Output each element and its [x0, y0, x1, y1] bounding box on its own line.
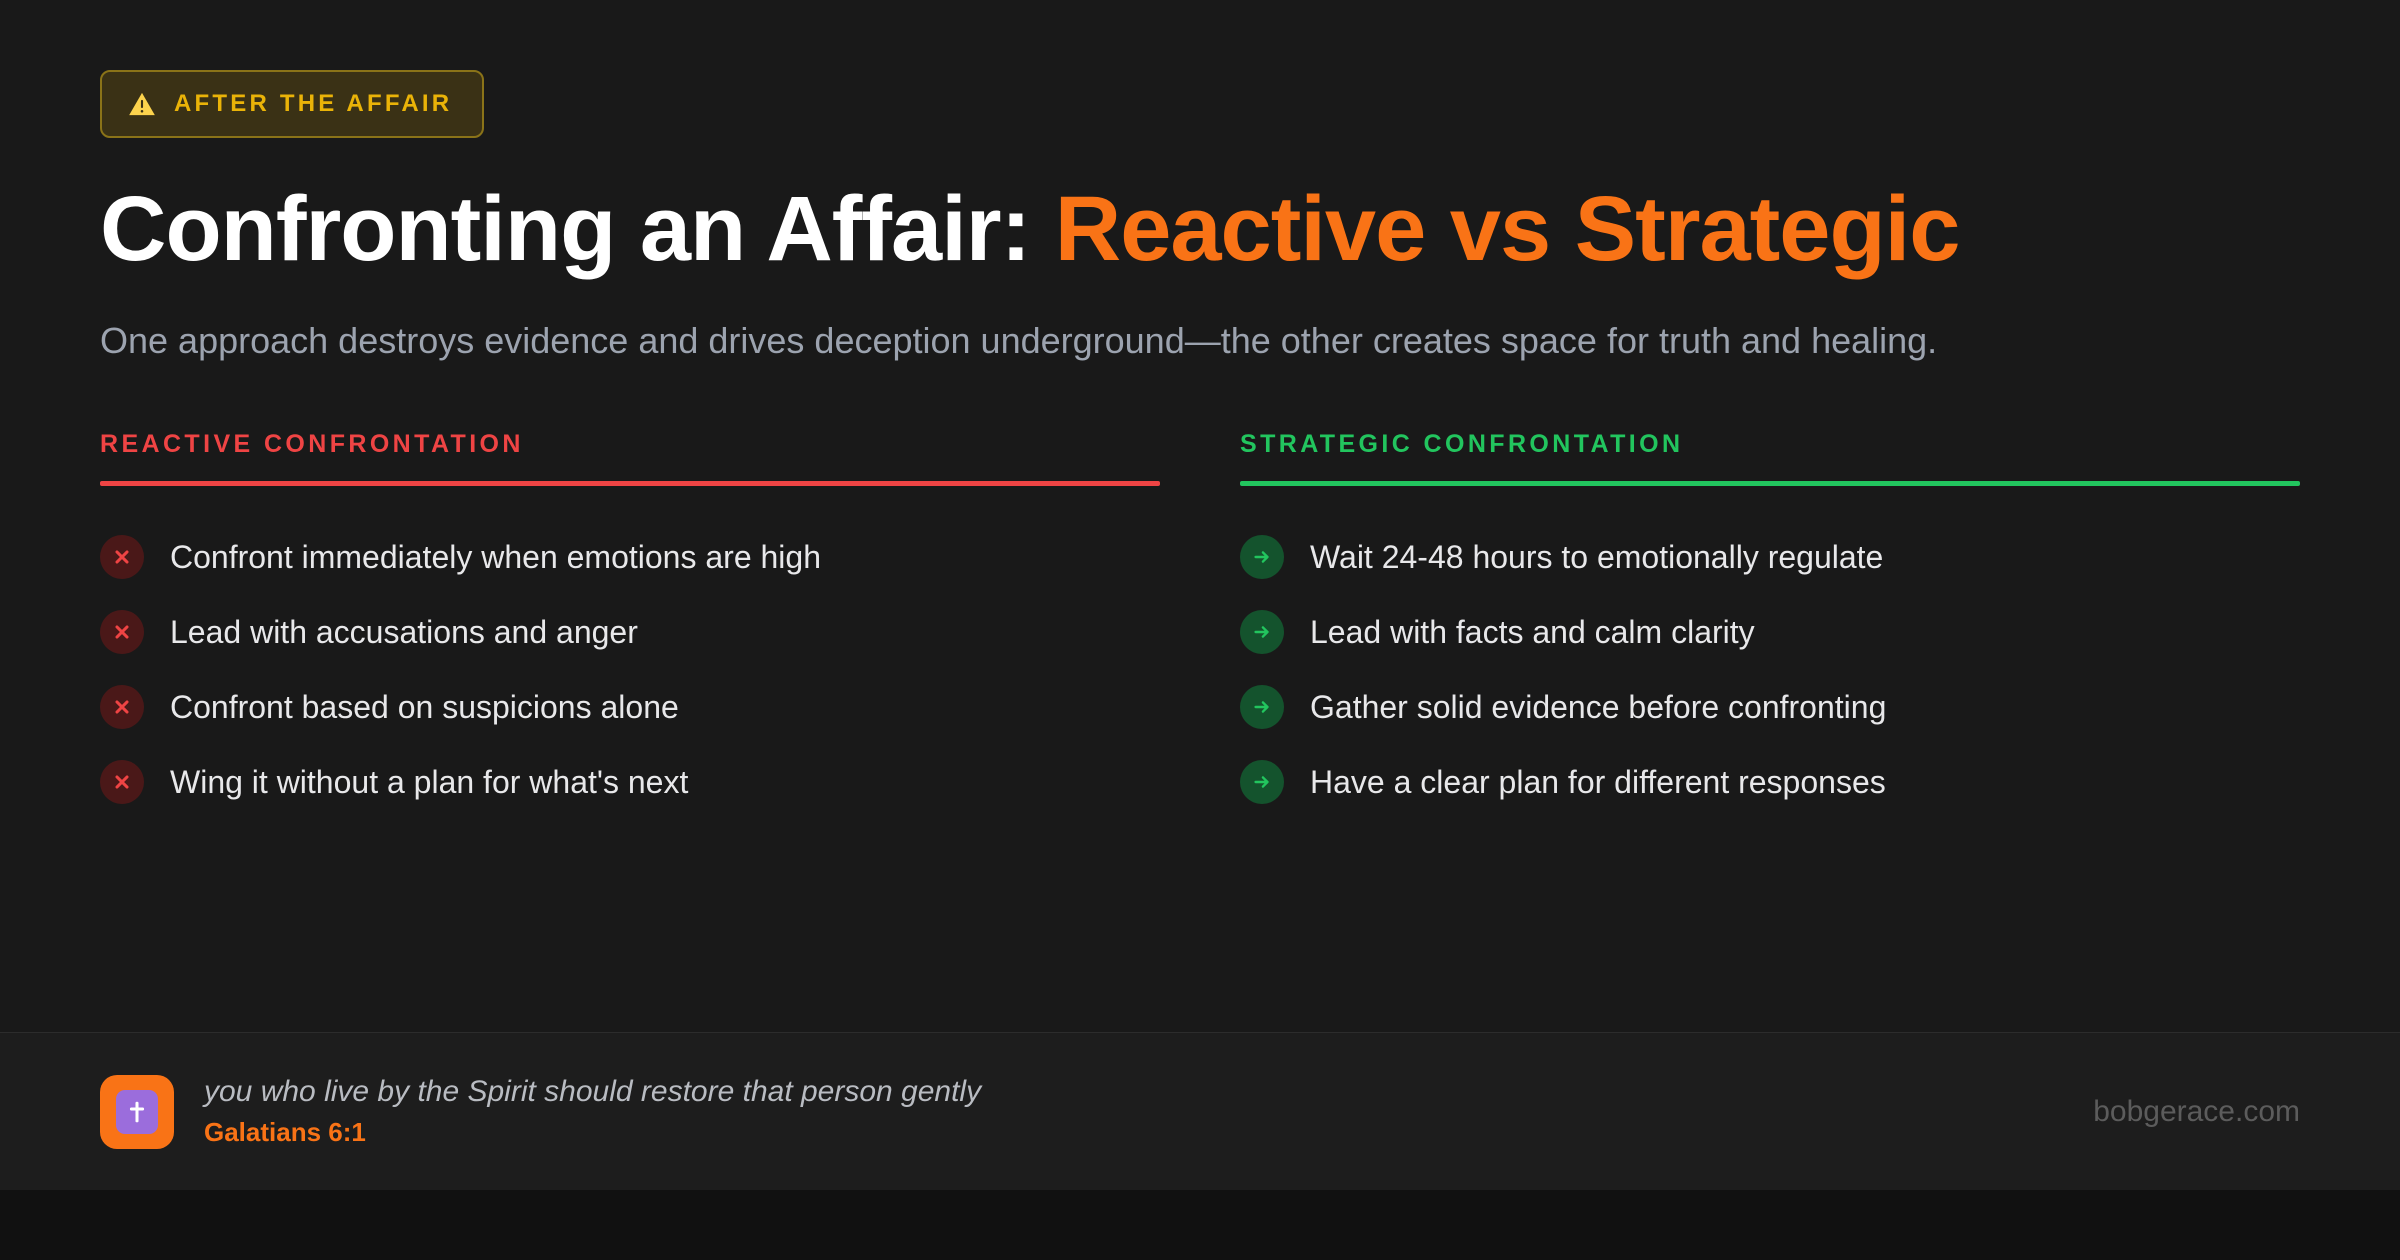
list-item-label: Have a clear plan for different response… [1310, 764, 1886, 801]
list-item: Wing it without a plan for what's next [100, 745, 1160, 820]
footer-bar: you who live by the Spirit should restor… [0, 1032, 2400, 1190]
page-subtitle: One approach destroys evidence and drive… [100, 315, 2270, 367]
page-title-accent: Reactive vs Strategic [1055, 178, 1960, 280]
column-strategic-heading: STRATEGIC CONFRONTATION [1240, 430, 2300, 481]
column-strategic: STRATEGIC CONFRONTATION Wait 24-48 hours… [1240, 430, 2300, 820]
x-circle-icon [100, 610, 144, 654]
slide-canvas: AFTER THE AFFAIR Confronting an Affair: … [0, 0, 2400, 1260]
section-badge-label: AFTER THE AFFAIR [174, 90, 452, 118]
column-reactive: REACTIVE CONFRONTATION Confront immediat… [100, 430, 1160, 820]
x-circle-icon [100, 535, 144, 579]
warning-triangle-icon [128, 91, 156, 117]
footer-quote-text: you who live by the Spirit should restor… [204, 1075, 981, 1109]
bottom-strip [0, 1190, 2400, 1260]
list-item-label: Lead with accusations and anger [170, 614, 638, 651]
arrow-right-circle-icon [1240, 610, 1284, 654]
list-item: Lead with accusations and anger [100, 595, 1160, 670]
footer-scripture: you who live by the Spirit should restor… [204, 1075, 981, 1148]
arrow-right-circle-icon [1240, 760, 1284, 804]
slide-body: AFTER THE AFFAIR Confronting an Affair: … [0, 0, 2400, 1032]
list-item: Have a clear plan for different response… [1240, 745, 2300, 820]
x-circle-icon [100, 760, 144, 804]
page-title: Confronting an Affair: Reactive vs Strat… [100, 180, 2100, 279]
page-title-plain: Confronting an Affair: [100, 178, 1055, 280]
arrow-right-circle-icon [1240, 535, 1284, 579]
column-reactive-divider [100, 481, 1160, 486]
list-item: Lead with facts and calm clarity [1240, 595, 2300, 670]
list-item-label: Lead with facts and calm clarity [1310, 614, 1755, 651]
list-item-label: Wing it without a plan for what's next [170, 764, 688, 801]
cross-icon [116, 1090, 158, 1134]
comparison-columns: REACTIVE CONFRONTATION Confront immediat… [100, 430, 2300, 820]
list-item: Confront based on suspicions alone [100, 670, 1160, 745]
x-circle-icon [100, 685, 144, 729]
list-item-label: Wait 24-48 hours to emotionally regulate [1310, 539, 1883, 576]
list-item-label: Confront based on suspicions alone [170, 689, 679, 726]
arrow-right-circle-icon [1240, 685, 1284, 729]
list-item: Wait 24-48 hours to emotionally regulate [1240, 520, 2300, 595]
column-reactive-list: Confront immediately when emotions are h… [100, 520, 1160, 820]
list-item-label: Gather solid evidence before confronting [1310, 689, 1886, 726]
cross-book-icon [100, 1075, 174, 1149]
column-reactive-heading: REACTIVE CONFRONTATION [100, 430, 1160, 481]
section-badge: AFTER THE AFFAIR [100, 70, 484, 138]
column-strategic-list: Wait 24-48 hours to emotionally regulate… [1240, 520, 2300, 820]
column-strategic-divider [1240, 481, 2300, 486]
list-item: Confront immediately when emotions are h… [100, 520, 1160, 595]
list-item: Gather solid evidence before confronting [1240, 670, 2300, 745]
footer-website: bobgerace.com [2093, 1095, 2300, 1129]
footer-reference: Galatians 6:1 [204, 1117, 981, 1148]
list-item-label: Confront immediately when emotions are h… [170, 539, 821, 576]
